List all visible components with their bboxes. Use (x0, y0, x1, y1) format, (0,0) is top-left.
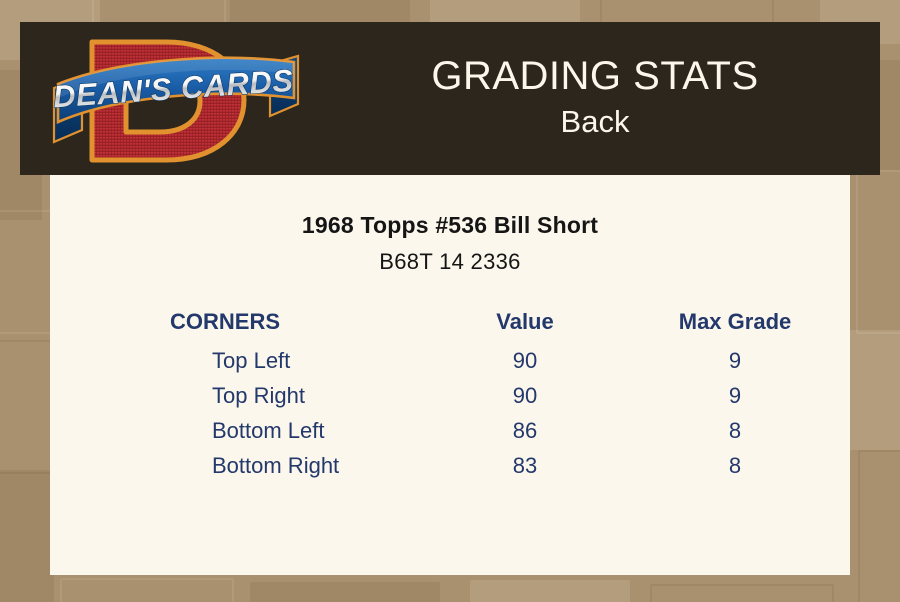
row-value: 90 (430, 378, 620, 413)
grading-stats-table: CORNERS Value Max Grade Top Left 90 9 To… (50, 309, 850, 483)
row-label: Bottom Right (50, 448, 430, 483)
table-row: Bottom Left 86 8 (50, 413, 850, 448)
table-row: Top Left 90 9 (50, 343, 850, 378)
column-header-max-grade: Max Grade (620, 309, 850, 343)
content-panel: 1968 Topps #536 Bill Short B68T 14 2336 … (50, 175, 850, 575)
grading-stats-card: DEAN'S CARDS GRADING STATS Back 1968 Top… (20, 22, 880, 575)
header-title-group: GRADING STATS Back (310, 22, 880, 175)
page-title: GRADING STATS (431, 55, 758, 97)
deans-cards-logo: DEAN'S CARDS (48, 26, 302, 171)
card-title: 1968 Topps #536 Bill Short (50, 175, 850, 239)
row-value: 83 (430, 448, 620, 483)
column-header-value: Value (430, 309, 620, 343)
table-row: Top Right 90 9 (50, 378, 850, 413)
column-header-corners: CORNERS (50, 309, 430, 343)
row-label: Top Left (50, 343, 430, 378)
row-value: 90 (430, 343, 620, 378)
row-max-grade: 8 (620, 413, 850, 448)
row-max-grade: 9 (620, 343, 850, 378)
table-row: Bottom Right 83 8 (50, 448, 850, 483)
header-bar: DEAN'S CARDS GRADING STATS Back (20, 22, 880, 175)
page-subtitle: Back (561, 103, 630, 142)
row-max-grade: 9 (620, 378, 850, 413)
row-label: Top Right (50, 378, 430, 413)
svg-text:DEAN'S CARDS: DEAN'S CARDS (52, 63, 295, 115)
card-code: B68T 14 2336 (50, 239, 850, 275)
row-label: Bottom Left (50, 413, 430, 448)
table-header-row: CORNERS Value Max Grade (50, 309, 850, 343)
row-max-grade: 8 (620, 448, 850, 483)
row-value: 86 (430, 413, 620, 448)
